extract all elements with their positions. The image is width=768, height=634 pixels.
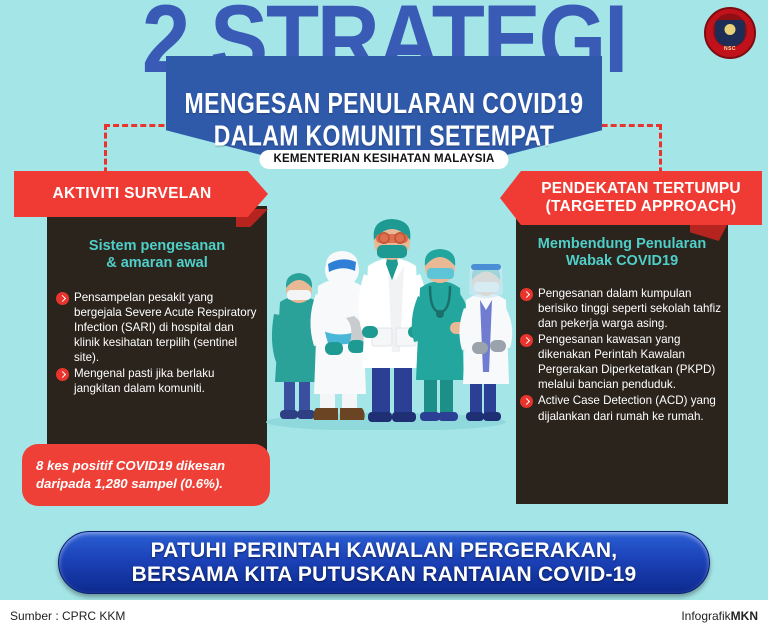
- footer: Sumber : CPRC KKM InfografikMKN: [0, 600, 768, 634]
- left-banner-label: AKTIVITI SURVELAN: [14, 171, 268, 217]
- cta-line-1: PATUHI PERINTAH KAWALAN PERGERAKAN,: [132, 539, 637, 563]
- list-item: Pengesanan dalam kumpulan berisiko tingg…: [520, 286, 726, 331]
- right-banner-line-2: (TARGETED APPROACH): [541, 198, 741, 216]
- list-item-text: Mengenal pasti jika berlaku jangkitan da…: [74, 366, 262, 396]
- statistic-line-2: daripada 1,280 sampel (0.6%).: [36, 475, 225, 493]
- list-item-text: Pengesanan kawasan yang dikenakan Perint…: [538, 332, 726, 392]
- left-heading-line-1: Sistem pengesanan: [47, 238, 267, 255]
- list-item-text: Pengesanan dalam kumpulan berisiko tingg…: [538, 286, 726, 331]
- subtitle-line-1: MENGESAN PENULARAN COVID19: [0, 88, 768, 120]
- ministry-label: KEMENTERIAN KESIHATAN MALAYSIA: [259, 150, 508, 169]
- chevron-right-icon: [520, 395, 533, 408]
- right-panel-heading: Membendung Penularan Wabak COVID19: [516, 236, 728, 270]
- right-banner-line-1: PENDEKATAN TERTUMPU: [541, 180, 741, 198]
- right-heading-line-1: Membendung Penularan: [516, 236, 728, 253]
- subtitle-line-2: DALAM KOMUNITI SETEMPAT: [0, 120, 768, 152]
- list-item: Pensampelan pesakit yang bergejala Sever…: [56, 290, 262, 365]
- call-to-action-banner: PATUHI PERINTAH KAWALAN PERGERAKAN, BERS…: [58, 531, 710, 594]
- footer-brand-light: Infografik: [681, 609, 730, 623]
- left-bullet-list: Pensampelan pesakit yang bergejala Sever…: [56, 290, 262, 397]
- list-item: Pengesanan kawasan yang dikenakan Perint…: [520, 332, 726, 392]
- footer-brand: InfografikMKN: [681, 609, 758, 623]
- statistic-line-1: 8 kes positif COVID19 dikesan: [36, 457, 225, 475]
- call-to-action-text: PATUHI PERINTAH KAWALAN PERGERAKAN, BERS…: [132, 539, 637, 586]
- list-item-text: Pensampelan pesakit yang bergejala Sever…: [74, 290, 262, 365]
- left-heading-line-2: & amaran awal: [47, 255, 267, 272]
- right-heading-line-2: Wabak COVID19: [516, 253, 728, 270]
- page-subtitle: MENGESAN PENULARAN COVID19 DALAM KOMUNIT…: [0, 88, 768, 152]
- list-item-text: Active Case Detection (ACD) yang dijalan…: [538, 393, 726, 423]
- right-banner-label: PENDEKATAN TERTUMPU (TARGETED APPROACH): [500, 171, 762, 225]
- footer-source: Sumber : CPRC KKM: [10, 609, 125, 623]
- left-panel-heading: Sistem pengesanan & amaran awal: [47, 238, 267, 272]
- chevron-right-icon: [520, 334, 533, 347]
- infographic-poster: 2 STRATEGI MENGESAN PENULARAN COVID19 DA…: [0, 0, 768, 634]
- crest-shield-icon: [715, 20, 745, 46]
- footer-brand-bold: MKN: [731, 609, 758, 623]
- chevron-right-icon: [520, 288, 533, 301]
- mkn-crest-icon: NSC: [704, 7, 756, 59]
- statistic-callout: 8 kes positif COVID19 dikesan daripada 1…: [22, 444, 270, 506]
- right-bullet-list: Pengesanan dalam kumpulan berisiko tingg…: [520, 286, 726, 425]
- list-item: Mengenal pasti jika berlaku jangkitan da…: [56, 366, 262, 396]
- chevron-right-icon: [56, 368, 69, 381]
- cta-line-2: BERSAMA KITA PUTUSKAN RANTAIAN COVID-19: [132, 563, 637, 587]
- chevron-right-icon: [56, 292, 69, 305]
- healthcare-workers-illustration: [258, 190, 514, 430]
- list-item: Active Case Detection (ACD) yang dijalan…: [520, 393, 726, 423]
- crest-caption: NSC: [706, 46, 754, 52]
